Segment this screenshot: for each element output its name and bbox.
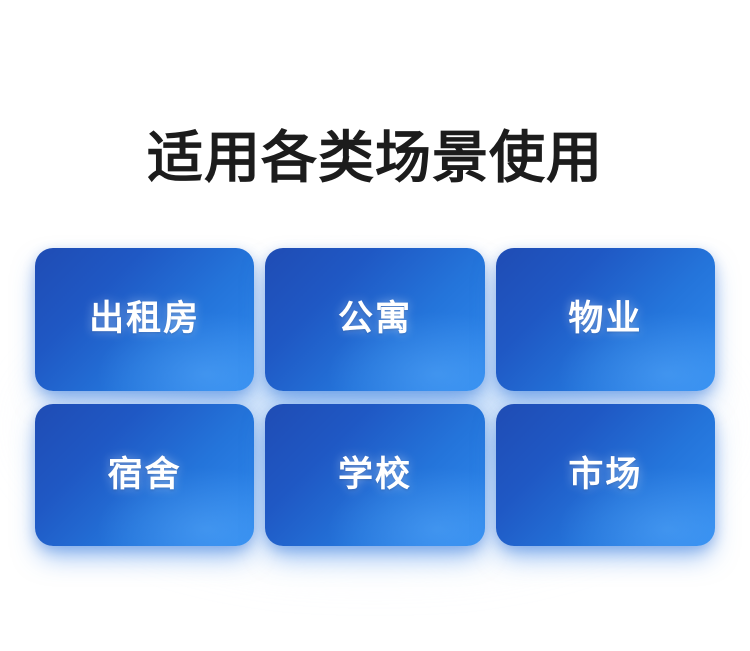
scene-card-property-management[interactable]: 物业	[496, 248, 715, 391]
scene-card-label: 宿舍	[108, 455, 182, 495]
scene-card-label: 出租房	[89, 299, 200, 339]
scene-card-label: 市场	[568, 455, 642, 495]
scene-card-school[interactable]: 学校	[265, 404, 484, 547]
page-title: 适用各类场景使用	[0, 126, 750, 190]
scene-showcase-page: 适用各类场景使用 出租房 公寓 物业 宿舍 学校 市场	[0, 0, 750, 651]
scene-card-grid: 出租房 公寓 物业 宿舍 学校 市场	[35, 248, 715, 546]
scene-card-label: 物业	[568, 299, 642, 339]
scene-card-dormitory[interactable]: 宿舍	[35, 404, 254, 547]
scene-grid-container: 出租房 公寓 物业 宿舍 学校 市场	[35, 248, 715, 546]
scene-card-market[interactable]: 市场	[496, 404, 715, 547]
scene-card-label: 公寓	[338, 299, 412, 339]
scene-card-label: 学校	[338, 455, 412, 495]
scene-card-apartment[interactable]: 公寓	[265, 248, 484, 391]
scene-card-rental-house[interactable]: 出租房	[35, 248, 254, 391]
